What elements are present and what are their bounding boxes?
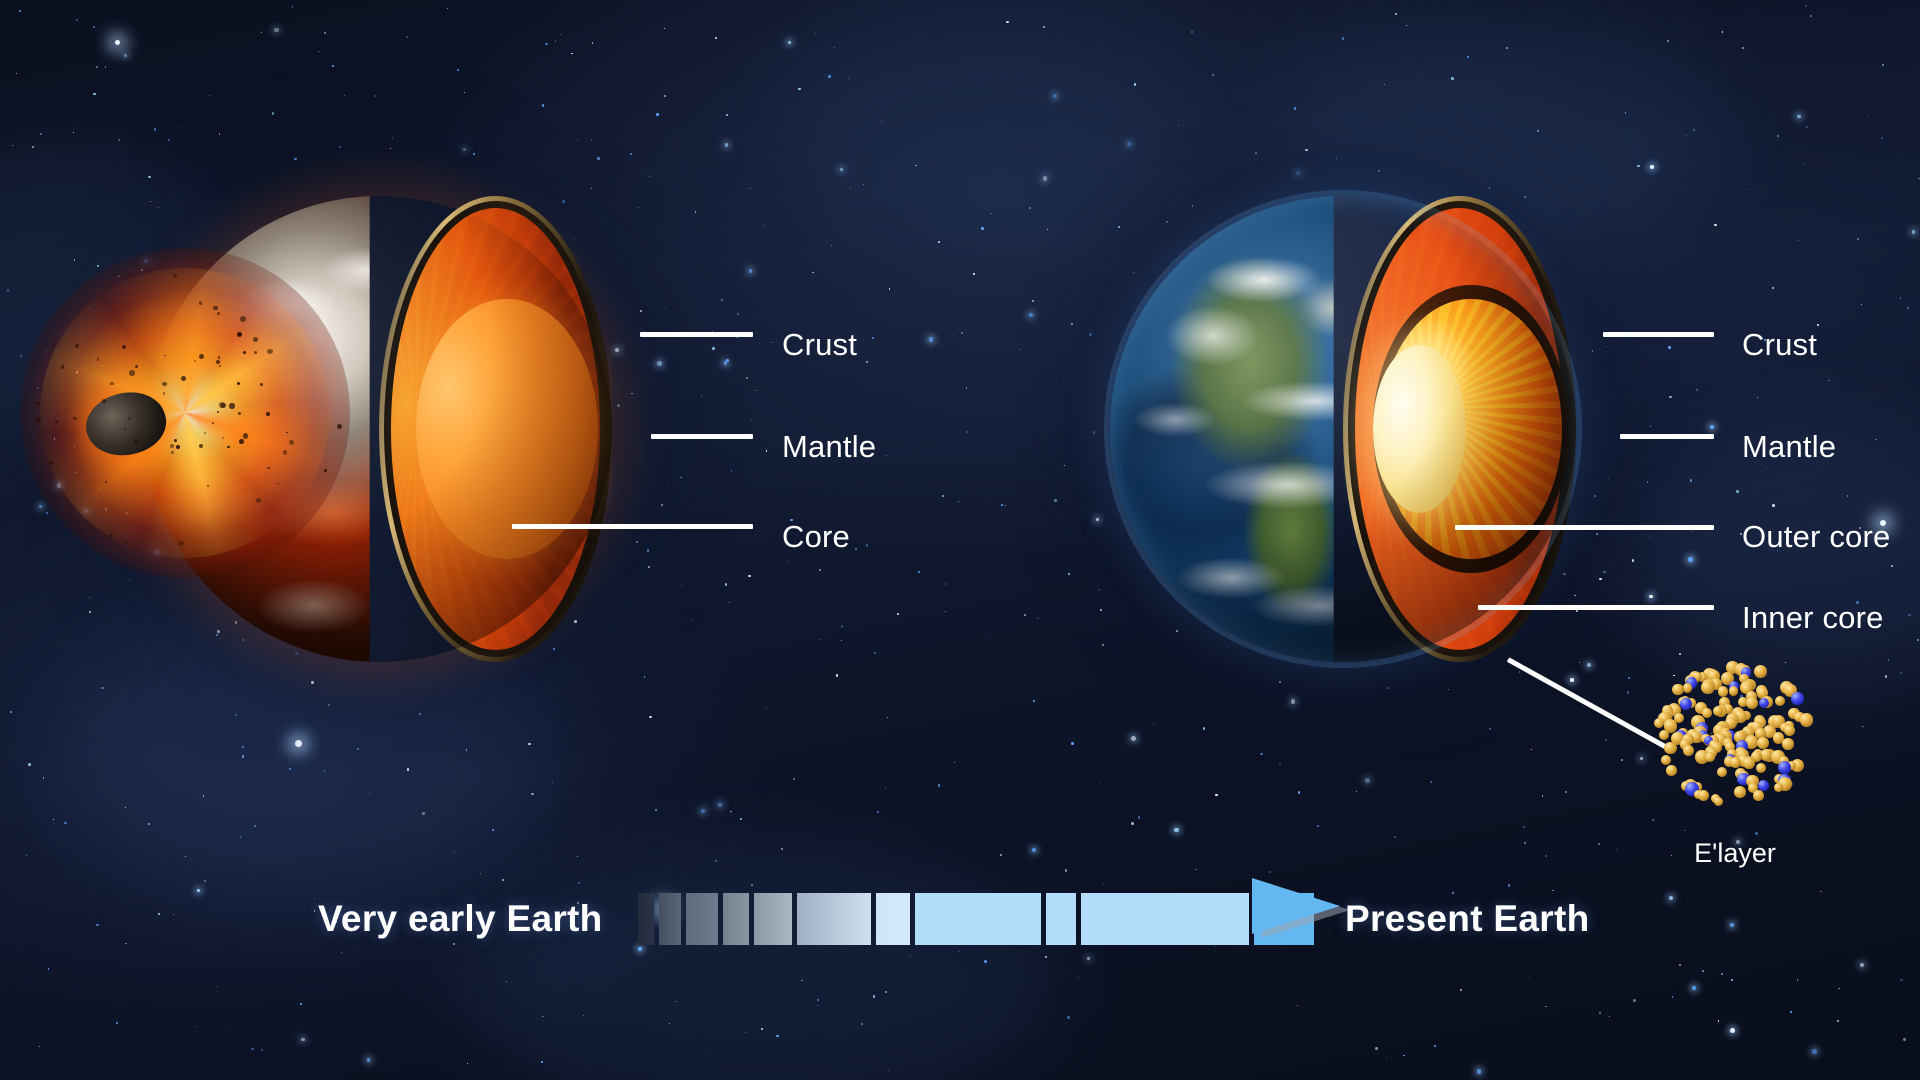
star bbox=[1627, 691, 1630, 694]
star bbox=[709, 1055, 710, 1056]
star bbox=[1616, 849, 1617, 850]
star bbox=[407, 768, 409, 770]
star bbox=[274, 28, 279, 33]
star bbox=[953, 335, 954, 336]
star bbox=[718, 803, 722, 807]
star bbox=[1336, 158, 1337, 159]
star bbox=[1378, 170, 1380, 172]
star bbox=[938, 784, 941, 787]
star bbox=[1279, 764, 1281, 766]
star bbox=[788, 41, 791, 44]
star bbox=[1260, 753, 1263, 756]
star bbox=[1033, 700, 1036, 703]
star bbox=[764, 225, 765, 226]
star bbox=[1907, 307, 1910, 310]
star bbox=[649, 716, 652, 719]
star bbox=[1667, 40, 1669, 42]
atom-gold bbox=[1705, 752, 1715, 762]
star bbox=[390, 148, 391, 149]
eprime-molecule-cluster bbox=[1655, 665, 1815, 805]
star bbox=[1489, 187, 1491, 189]
star bbox=[235, 714, 237, 716]
star bbox=[631, 393, 633, 395]
star bbox=[1305, 149, 1308, 152]
leader-line-present-crust bbox=[1603, 332, 1714, 337]
star bbox=[1598, 843, 1600, 845]
star bbox=[251, 1048, 254, 1051]
star bbox=[74, 446, 76, 448]
star bbox=[647, 549, 649, 551]
star bbox=[1255, 152, 1257, 154]
early-earth-globe bbox=[146, 196, 612, 662]
star bbox=[1098, 589, 1099, 590]
star bbox=[887, 717, 889, 719]
atom-blue bbox=[1778, 761, 1791, 774]
star bbox=[1714, 224, 1717, 227]
star bbox=[454, 852, 455, 853]
star bbox=[648, 566, 650, 568]
star bbox=[889, 288, 891, 290]
star bbox=[990, 213, 991, 214]
star bbox=[630, 153, 632, 155]
ember-particle bbox=[105, 481, 107, 483]
star bbox=[819, 639, 820, 640]
star bbox=[840, 168, 843, 171]
star bbox=[88, 307, 89, 308]
star bbox=[812, 272, 814, 274]
star bbox=[695, 211, 697, 213]
star bbox=[1565, 791, 1567, 793]
star bbox=[888, 1070, 889, 1071]
star bbox=[300, 1003, 302, 1005]
star bbox=[897, 613, 899, 615]
ember-particle bbox=[38, 436, 40, 438]
star bbox=[873, 995, 875, 997]
star bbox=[828, 75, 831, 78]
star bbox=[73, 132, 74, 133]
ember-particle bbox=[102, 399, 107, 404]
ember-particle bbox=[125, 541, 128, 544]
star bbox=[855, 548, 857, 550]
ember-particle bbox=[35, 417, 41, 423]
star bbox=[815, 33, 816, 34]
star bbox=[724, 361, 728, 365]
star bbox=[1903, 1038, 1905, 1040]
ember-particle bbox=[134, 439, 138, 443]
star bbox=[1838, 988, 1840, 990]
star bbox=[1576, 610, 1578, 612]
star bbox=[1298, 791, 1300, 793]
star bbox=[615, 348, 619, 352]
atom-gold bbox=[1754, 665, 1767, 678]
atom-blue bbox=[1791, 692, 1804, 705]
star bbox=[1785, 662, 1786, 663]
star bbox=[96, 66, 99, 69]
ember-particle bbox=[73, 417, 77, 421]
timeline-start-label: Very early Earth bbox=[318, 898, 603, 940]
star bbox=[1531, 749, 1533, 751]
leader-line-eprime bbox=[1507, 657, 1672, 752]
star bbox=[1047, 229, 1048, 230]
star bbox=[463, 148, 467, 152]
star bbox=[1668, 346, 1671, 349]
atom-gold bbox=[1784, 725, 1795, 736]
star bbox=[1043, 176, 1048, 181]
star bbox=[788, 561, 789, 562]
star bbox=[766, 450, 767, 451]
star bbox=[1019, 349, 1020, 350]
atom-gold bbox=[1683, 745, 1694, 756]
star bbox=[528, 743, 530, 745]
star bbox=[730, 811, 732, 813]
star bbox=[885, 991, 887, 993]
star bbox=[542, 104, 545, 107]
star bbox=[1730, 1028, 1735, 1033]
star bbox=[1650, 165, 1654, 169]
star bbox=[642, 174, 643, 175]
star bbox=[1451, 77, 1454, 80]
star bbox=[1596, 533, 1599, 536]
star bbox=[357, 748, 359, 750]
star bbox=[973, 273, 975, 275]
star bbox=[1071, 323, 1073, 325]
star bbox=[128, 437, 130, 439]
ember-particle bbox=[61, 365, 65, 369]
star bbox=[1691, 531, 1692, 532]
present-earth-globe bbox=[1110, 196, 1576, 662]
atom-gold bbox=[1730, 757, 1741, 768]
star bbox=[1296, 171, 1300, 175]
star bbox=[555, 40, 557, 42]
star bbox=[987, 636, 989, 638]
atom-gold bbox=[1757, 737, 1769, 749]
star bbox=[99, 487, 101, 489]
star bbox=[1649, 537, 1650, 538]
star bbox=[836, 674, 838, 676]
leader-line-present-outer-core bbox=[1455, 525, 1714, 530]
star bbox=[1178, 125, 1179, 126]
star bbox=[874, 652, 876, 654]
star bbox=[1342, 37, 1345, 40]
star bbox=[817, 999, 819, 1001]
star bbox=[715, 37, 717, 39]
atom-gold bbox=[1743, 757, 1754, 768]
leader-line-early-mantle bbox=[651, 434, 753, 439]
star bbox=[1317, 825, 1319, 827]
star bbox=[1032, 300, 1034, 302]
atom-gold bbox=[1782, 738, 1794, 750]
star bbox=[542, 1016, 544, 1018]
star bbox=[1024, 614, 1026, 616]
star bbox=[1621, 759, 1623, 761]
star bbox=[761, 1028, 763, 1030]
star bbox=[101, 687, 103, 689]
star bbox=[929, 337, 934, 342]
star bbox=[105, 508, 107, 510]
star bbox=[745, 1032, 746, 1033]
star bbox=[1900, 297, 1902, 299]
star bbox=[1900, 672, 1902, 674]
star bbox=[1519, 671, 1521, 673]
leader-line-present-inner-core bbox=[1478, 605, 1714, 610]
star bbox=[1029, 207, 1031, 209]
star bbox=[84, 509, 87, 512]
star bbox=[1203, 727, 1206, 730]
timeline-segment-8 bbox=[915, 893, 1041, 945]
star bbox=[1489, 728, 1491, 730]
star bbox=[945, 583, 947, 585]
star bbox=[1722, 31, 1724, 33]
atom-gold bbox=[1661, 755, 1671, 765]
star bbox=[691, 620, 692, 621]
star bbox=[1071, 742, 1074, 745]
star bbox=[1882, 64, 1884, 66]
star bbox=[1766, 467, 1767, 468]
ember-particle bbox=[135, 365, 138, 368]
star bbox=[661, 504, 663, 506]
star bbox=[413, 678, 414, 679]
star bbox=[1690, 479, 1693, 482]
star bbox=[46, 512, 48, 514]
star bbox=[1467, 56, 1469, 58]
star bbox=[1772, 287, 1775, 290]
star bbox=[1608, 478, 1609, 479]
star bbox=[1570, 678, 1573, 681]
ember-particle bbox=[109, 534, 113, 538]
star bbox=[866, 361, 868, 363]
star bbox=[592, 42, 594, 44]
star bbox=[798, 88, 800, 90]
star bbox=[37, 387, 39, 389]
star bbox=[560, 34, 561, 35]
star bbox=[26, 855, 27, 856]
star bbox=[726, 359, 729, 362]
star bbox=[552, 782, 553, 783]
leader-line-early-crust bbox=[640, 332, 753, 337]
evolution-timeline: Very early Earth Present Earth bbox=[0, 880, 1920, 970]
leader-line-present-mantle bbox=[1620, 434, 1714, 439]
star bbox=[746, 377, 748, 379]
atom-gold bbox=[1714, 797, 1723, 806]
star bbox=[261, 1049, 263, 1051]
star bbox=[751, 419, 752, 420]
star bbox=[242, 746, 244, 748]
star bbox=[1721, 973, 1723, 975]
star bbox=[97, 490, 98, 491]
star bbox=[76, 19, 78, 21]
star bbox=[1594, 495, 1596, 497]
atom-gold bbox=[1701, 681, 1714, 694]
star bbox=[657, 361, 662, 366]
star bbox=[1731, 979, 1734, 982]
star bbox=[1692, 986, 1696, 990]
star bbox=[1684, 830, 1686, 832]
star bbox=[771, 342, 773, 344]
star bbox=[740, 818, 742, 820]
early-core-layer bbox=[416, 299, 598, 560]
star bbox=[831, 245, 832, 246]
label-present-outer-core: Outer core bbox=[1742, 519, 1890, 555]
timeline-segment-7 bbox=[876, 893, 910, 945]
star bbox=[1861, 304, 1862, 305]
star bbox=[755, 390, 756, 391]
star bbox=[447, 8, 449, 10]
star bbox=[1891, 565, 1893, 567]
atom-gold bbox=[1683, 683, 1692, 692]
star bbox=[1912, 230, 1916, 234]
timeline-segment-5 bbox=[754, 893, 792, 945]
star bbox=[1806, 126, 1808, 128]
atom-gold bbox=[1775, 696, 1785, 706]
star bbox=[1868, 115, 1869, 116]
star bbox=[766, 707, 767, 708]
star bbox=[1688, 557, 1693, 562]
star bbox=[817, 1005, 818, 1006]
star bbox=[1605, 739, 1607, 741]
star bbox=[116, 1022, 118, 1024]
atom-gold bbox=[1753, 790, 1763, 800]
star bbox=[636, 541, 638, 543]
star bbox=[877, 811, 879, 813]
star bbox=[1001, 504, 1003, 506]
star bbox=[492, 829, 494, 831]
atom-blue bbox=[1759, 698, 1769, 708]
star bbox=[1693, 129, 1695, 131]
star bbox=[1064, 465, 1065, 466]
star bbox=[1875, 439, 1876, 440]
star bbox=[866, 544, 869, 547]
star bbox=[545, 43, 548, 46]
star bbox=[1696, 389, 1698, 391]
star bbox=[1195, 869, 1196, 870]
bright-star bbox=[295, 740, 302, 747]
star bbox=[40, 133, 42, 135]
star bbox=[819, 569, 821, 571]
star bbox=[196, 1026, 197, 1027]
star bbox=[1403, 1055, 1404, 1056]
star bbox=[1134, 83, 1136, 85]
star bbox=[1755, 832, 1758, 835]
diagram-canvas: Crust Mantle Core Crust Mantle Outer cor… bbox=[0, 0, 1920, 1080]
star bbox=[1805, 5, 1807, 7]
star bbox=[958, 501, 959, 502]
star bbox=[664, 95, 666, 97]
star bbox=[1742, 47, 1744, 49]
atom-gold bbox=[1664, 742, 1676, 754]
star bbox=[1100, 609, 1102, 611]
atom-gold bbox=[1718, 686, 1728, 696]
star bbox=[1647, 481, 1649, 483]
star bbox=[261, 32, 263, 34]
star bbox=[168, 139, 170, 141]
star bbox=[1757, 397, 1758, 398]
star bbox=[1430, 781, 1432, 783]
star bbox=[328, 704, 331, 707]
star bbox=[1138, 816, 1140, 818]
star bbox=[1908, 614, 1910, 616]
star bbox=[1102, 644, 1103, 645]
star bbox=[1797, 979, 1799, 981]
star bbox=[1772, 504, 1774, 506]
star bbox=[1131, 822, 1134, 825]
star bbox=[97, 265, 99, 267]
star bbox=[1294, 107, 1296, 109]
star bbox=[729, 602, 730, 603]
label-early-core: Core bbox=[782, 519, 850, 555]
ember-particle bbox=[128, 417, 131, 420]
star bbox=[945, 611, 946, 612]
star bbox=[966, 431, 968, 433]
star bbox=[655, 809, 657, 811]
timeline-segment-3 bbox=[686, 893, 718, 945]
star bbox=[46, 350, 47, 351]
star bbox=[841, 625, 844, 628]
star bbox=[1006, 21, 1009, 24]
atom-gold bbox=[1800, 713, 1813, 726]
star bbox=[1005, 505, 1006, 506]
star bbox=[848, 78, 849, 79]
star bbox=[1637, 165, 1640, 168]
star bbox=[1599, 578, 1602, 581]
star bbox=[591, 140, 592, 141]
ember-particle bbox=[49, 461, 53, 465]
star bbox=[793, 778, 795, 780]
star bbox=[1736, 490, 1739, 493]
star bbox=[1900, 979, 1903, 982]
star bbox=[118, 139, 120, 141]
star bbox=[1025, 231, 1026, 232]
present-earth-cutaway bbox=[1343, 196, 1576, 662]
bright-star bbox=[115, 40, 120, 45]
star bbox=[571, 53, 573, 55]
star bbox=[1749, 189, 1750, 190]
star bbox=[1587, 663, 1592, 668]
star bbox=[981, 227, 984, 230]
atom-blue bbox=[1680, 698, 1692, 710]
atom-blue bbox=[1758, 780, 1769, 791]
star bbox=[664, 28, 665, 29]
atom-gold bbox=[1717, 767, 1727, 777]
star bbox=[318, 51, 319, 52]
star bbox=[1640, 757, 1643, 760]
star bbox=[966, 387, 967, 388]
star bbox=[776, 1035, 779, 1038]
star bbox=[531, 793, 533, 795]
star bbox=[506, 981, 507, 982]
star bbox=[872, 337, 874, 339]
star bbox=[750, 188, 752, 190]
atom-gold bbox=[1672, 684, 1684, 696]
star bbox=[1093, 431, 1096, 434]
star bbox=[20, 355, 22, 357]
star bbox=[242, 755, 245, 758]
star bbox=[1297, 1005, 1298, 1006]
ember-particle bbox=[55, 420, 58, 423]
star bbox=[583, 1015, 584, 1016]
star bbox=[918, 571, 920, 573]
star bbox=[1672, 996, 1673, 997]
ember-particle bbox=[36, 401, 41, 406]
star bbox=[701, 395, 702, 396]
label-early-mantle: Mantle bbox=[782, 429, 876, 465]
star bbox=[597, 157, 600, 160]
star bbox=[577, 856, 578, 857]
star bbox=[834, 47, 836, 49]
star bbox=[1032, 848, 1036, 852]
star bbox=[938, 241, 940, 243]
star bbox=[1174, 828, 1179, 833]
star bbox=[101, 365, 103, 367]
